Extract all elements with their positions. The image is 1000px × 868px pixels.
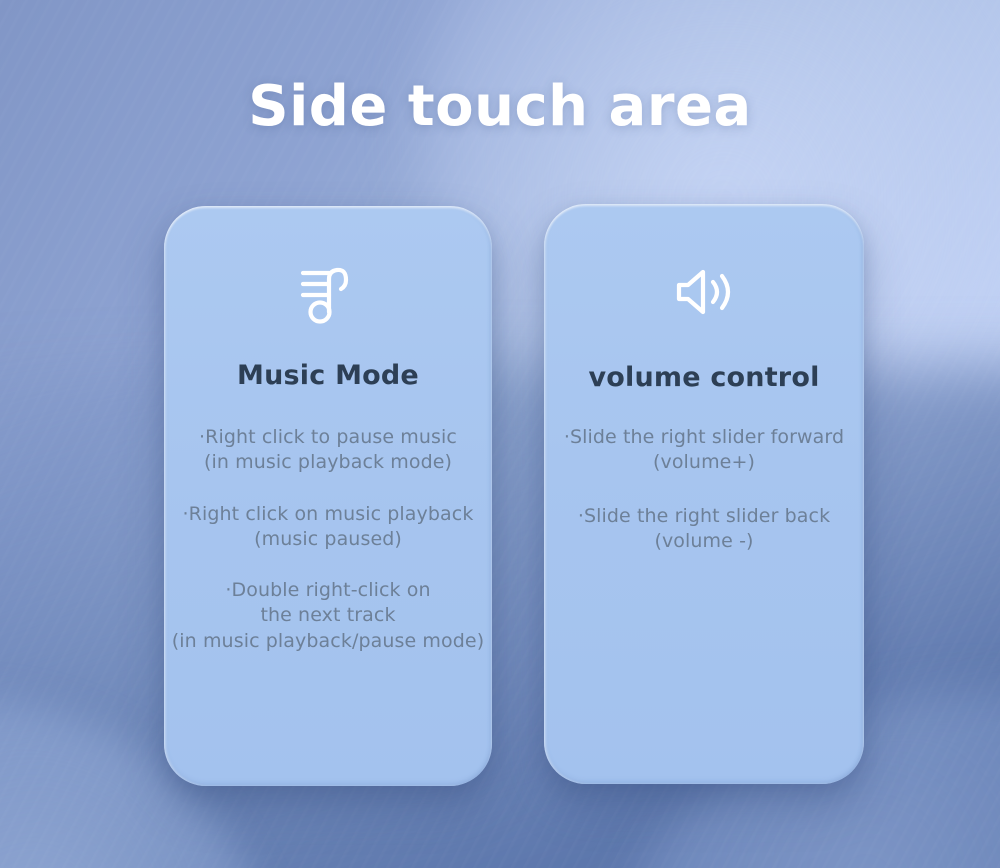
instruction-line: ·Right click on music playback [170,502,486,527]
card-title-volume-control: volume control [588,362,819,393]
card-body-volume-control: ·Slide the right slider forward (volume+… [544,425,864,554]
card-body-music-mode: ·Right click to pause music (in music pl… [164,425,492,654]
instruction-block: ·Double right-click on the next track (i… [170,578,486,654]
instruction-line: (volume+) [550,450,858,475]
music-playlist-note-icon [292,256,364,328]
instruction-block: ·Slide the right slider back (volume -) [550,504,858,555]
instruction-block: ·Right click to pause music (in music pl… [170,425,486,476]
page-title: Side touch area [0,74,1000,139]
instruction-line: ·Slide the right slider back [550,504,858,529]
speaker-volume-icon [668,256,740,328]
instruction-block: ·Right click on music playback (music pa… [170,502,486,553]
instruction-line: the next track [170,603,486,628]
instruction-block: ·Slide the right slider forward (volume+… [550,425,858,476]
instruction-line: ·Right click to pause music [170,425,486,450]
instruction-line: (in music playback mode) [170,450,486,475]
instruction-line: (in music playback/pause mode) [170,629,486,654]
instruction-line: ·Double right-click on [170,578,486,603]
card-music-mode[interactable]: Music Mode ·Right click to pause music (… [164,206,492,786]
card-volume-control[interactable]: volume control ·Slide the right slider f… [544,204,864,784]
instruction-line: (volume -) [550,529,858,554]
instruction-line: ·Slide the right slider forward [550,425,858,450]
instruction-line: (music paused) [170,527,486,552]
card-title-music-mode: Music Mode [237,360,419,391]
